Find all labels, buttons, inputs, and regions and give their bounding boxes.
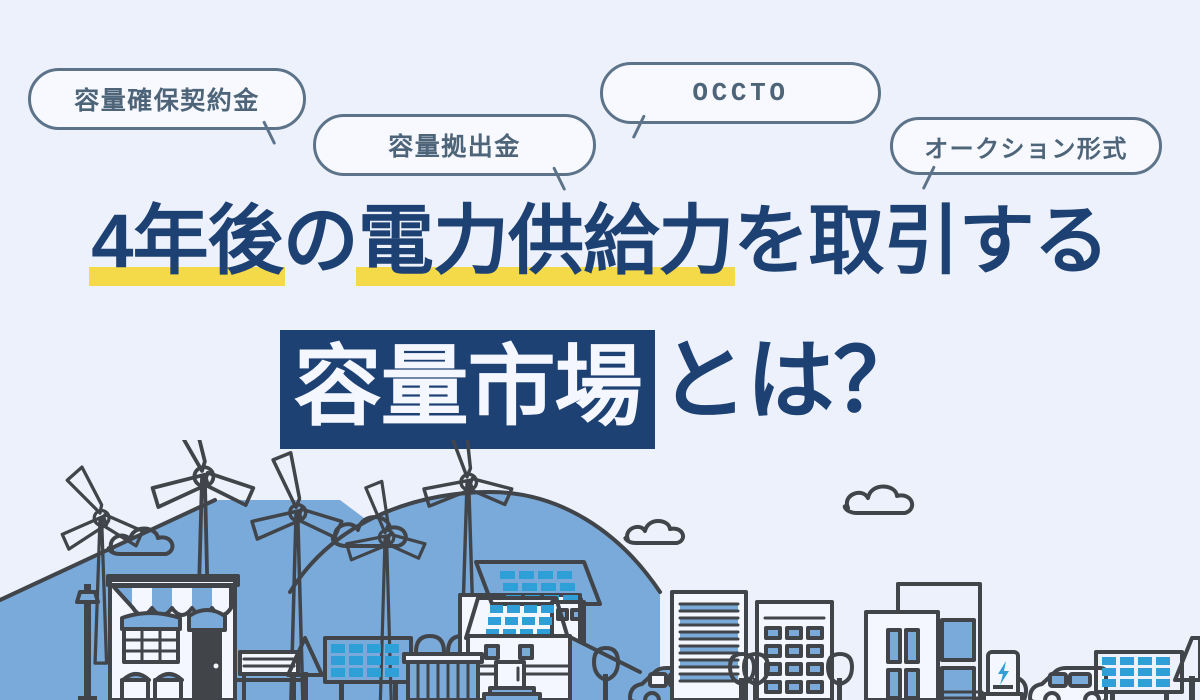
- bubble-tail-icon: [262, 120, 276, 145]
- page-title-line-1: 4年後の電力供給力を取引する: [0, 204, 1200, 280]
- shop-building: [108, 576, 238, 700]
- apartment-window-grid: [757, 602, 832, 700]
- bubble-capacity-contract-fee[interactable]: 容量確保契約金: [28, 68, 306, 130]
- page-title-line-2: 容量市場とは？: [0, 324, 1200, 443]
- container-box: [404, 654, 482, 700]
- headline-plain-1: の: [283, 204, 358, 280]
- headline-highlight-2: 電力供給力: [358, 204, 733, 280]
- bubble-tail-icon: [552, 166, 566, 191]
- solar-panel-ground-right: [1096, 652, 1182, 700]
- headline-plain-3: とは？: [659, 337, 920, 425]
- city-illustration: .ln{fill:none;stroke:#41454a;stroke-widt…: [0, 440, 1200, 700]
- bubble-label: OCCTO: [692, 78, 788, 108]
- bubble-capacity-contribution[interactable]: 容量拠出金: [313, 114, 596, 176]
- bubble-label: オークション形式: [924, 129, 1128, 164]
- bubble-tail-icon: [632, 114, 646, 139]
- bubble-label: 容量確保契約金: [74, 81, 260, 117]
- bubble-tail-icon: [922, 165, 936, 190]
- headline-boxed-term: 容量市場: [280, 330, 656, 449]
- bubble-label: 容量拠出金: [388, 127, 521, 163]
- ev-charger: [984, 652, 1026, 700]
- hero-banner: 容量確保契約金 容量拠出金 OCCTO オークション形式 4年後の電力供給力を取…: [0, 0, 1200, 700]
- headline-plain-2: を取引する: [733, 204, 1108, 280]
- headline-highlight-1: 4年後: [91, 204, 283, 280]
- bubble-occto[interactable]: OCCTO: [600, 62, 881, 124]
- bubble-auction-format[interactable]: オークション形式: [890, 117, 1162, 175]
- office-building-striped: [672, 592, 746, 700]
